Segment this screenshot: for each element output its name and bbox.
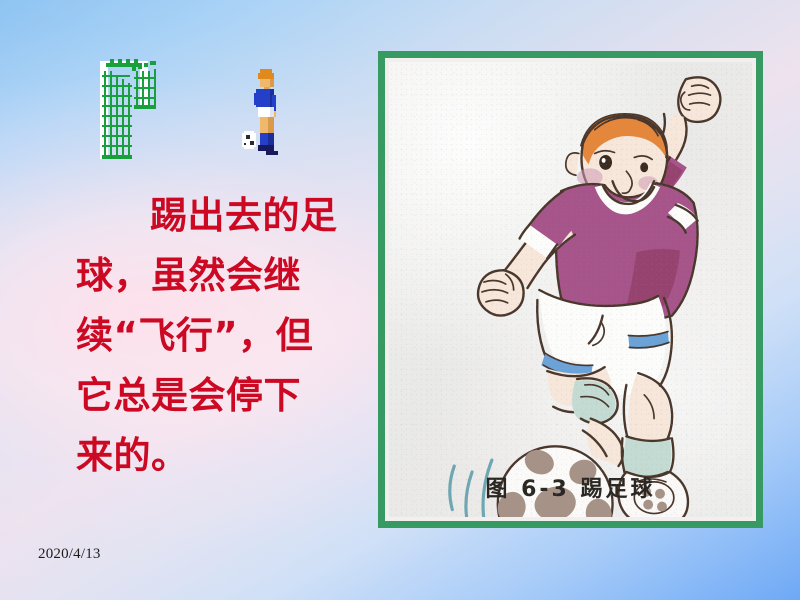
soccer-goal-icon: [88, 57, 162, 163]
soccer-player-icon: [238, 67, 286, 165]
figure-image: .ol { fill:none; stroke:#4a372c; stroke-…: [389, 62, 752, 517]
figure-caption: 图 6-3 踢足球: [389, 471, 752, 503]
date-stamp: 2020/4/13: [38, 546, 101, 563]
slide-body-text: 踢出去的足球，虽然会继续“飞行”，但它总是会停下来的。: [76, 186, 338, 486]
figure-frame: .ol { fill:none; stroke:#4a372c; stroke-…: [378, 51, 763, 528]
slide-canvas: 踢出去的足球，虽然会继续“飞行”，但它总是会停下来的。 2020/4/13 .o…: [0, 0, 800, 600]
